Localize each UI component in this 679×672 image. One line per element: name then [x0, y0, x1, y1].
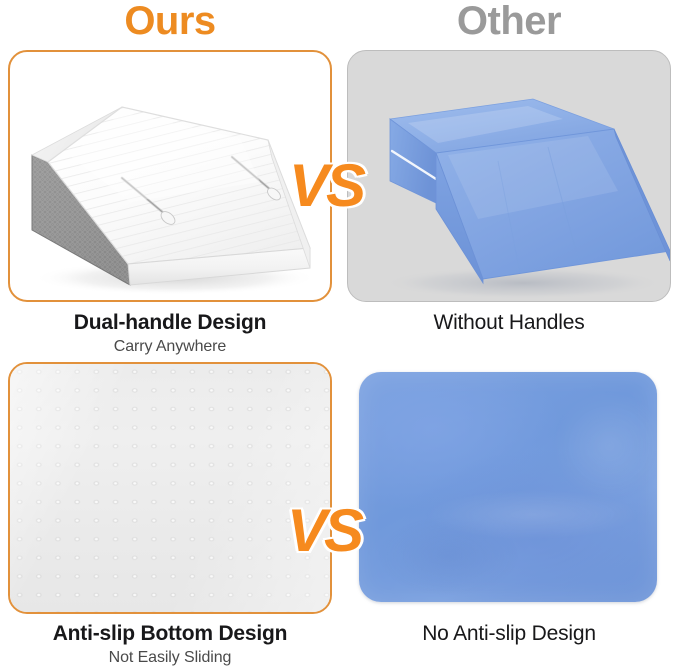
- caption-other-top-main: Without Handles: [347, 310, 671, 336]
- comparison-header: Ours Other: [0, 0, 679, 46]
- blue-wedge-pillow-no-handles-icon: [348, 51, 670, 301]
- caption-other-bottom-main: No Anti-slip Design: [347, 621, 671, 647]
- header-title-ours: Ours: [8, 0, 332, 44]
- vs-badge-bottom: VS: [287, 501, 361, 561]
- product-panel-ours-top: [8, 50, 332, 302]
- caption-ours-bottom: Anti-slip Bottom Design Not Easily Slidi…: [8, 621, 332, 669]
- product-panel-ours-bottom: [8, 362, 332, 614]
- caption-other-top: Without Handles: [347, 310, 671, 336]
- caption-ours-bottom-main: Anti-slip Bottom Design: [8, 621, 332, 647]
- product-panel-other-top: [347, 50, 671, 302]
- header-title-other: Other: [347, 0, 671, 44]
- product-panel-other-bottom: [347, 362, 671, 614]
- anti-slip-dotted-surface-icon: [10, 364, 330, 612]
- caption-ours-bottom-sub: Not Easily Sliding: [8, 647, 332, 669]
- smooth-blue-fabric-surface-icon: [359, 372, 657, 602]
- caption-other-bottom: No Anti-slip Design: [347, 621, 671, 647]
- fabric-creases: [359, 372, 657, 602]
- white-wedge-pillow-with-handles-icon: [10, 52, 330, 300]
- comparison-grid: Dual-handle Design Carry Anywhere Withou…: [0, 46, 679, 672]
- caption-ours-top: Dual-handle Design Carry Anywhere: [8, 310, 332, 358]
- vs-badge-top: VS: [289, 156, 363, 216]
- caption-ours-top-main: Dual-handle Design: [8, 310, 332, 336]
- caption-ours-top-sub: Carry Anywhere: [8, 336, 332, 358]
- surface-sheen: [10, 364, 330, 612]
